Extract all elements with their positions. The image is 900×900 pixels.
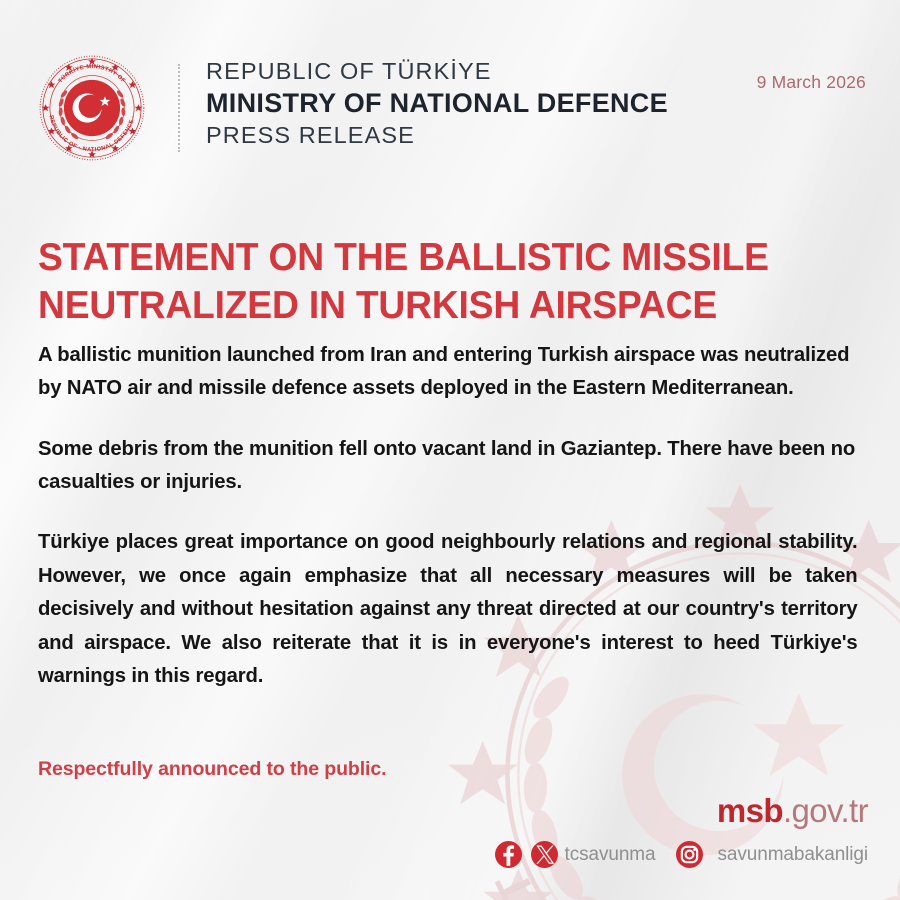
document-header: TÜRKİYE MINISTRY OF REPUBLIC OF · NATION… [38,52,866,162]
page-title: STATEMENT ON THE BALLISTIC MISSILE NEUTR… [38,234,773,330]
instagram-handle[interactable]: savunmabakanligi [718,844,869,866]
org-line-ministry: MINISTRY OF NATIONAL DEFENCE [206,87,668,119]
instagram-icon[interactable] [676,841,703,868]
header-title-block: REPUBLIC OF TÜRKİYE MINISTRY OF NATIONAL… [206,56,668,151]
org-line-press-release: PRESS RELEASE [206,120,668,151]
x-twitter-icon[interactable] [531,841,558,868]
ministry-seal-emblem: TÜRKİYE MINISTRY OF REPUBLIC OF · NATION… [38,54,146,162]
org-line-republic: REPUBLIC OF TÜRKİYE [206,56,668,87]
header-divider [178,64,180,152]
press-release-date: 9 March 2026 [757,72,866,93]
body-paragraph-1: A ballistic munition launched from Iran … [38,338,858,405]
website-url[interactable]: msb.gov.tr [495,794,868,827]
press-release-body: A ballistic munition launched from Iran … [38,338,870,719]
document-footer: msb.gov.tr tcsavunma sa [495,794,868,868]
closing-statement: Respectfully announced to the public. [38,758,386,781]
facebook-icon[interactable] [495,841,522,868]
body-paragraph-3: Türkiye places great importance on good … [38,525,858,692]
body-paragraph-2: Some debris from the munition fell onto … [38,432,858,499]
social-links: tcsavunma savunmabakanligi [495,841,868,868]
x-twitter-handle[interactable]: tcsavunma [565,844,656,866]
website-tld: .gov.tr [783,792,868,829]
press-release-page: TÜRKİYE CUMHURİYETİ MİLLİ SAVUNMA BAKANL… [0,0,900,900]
website-brand: msb [717,792,783,829]
